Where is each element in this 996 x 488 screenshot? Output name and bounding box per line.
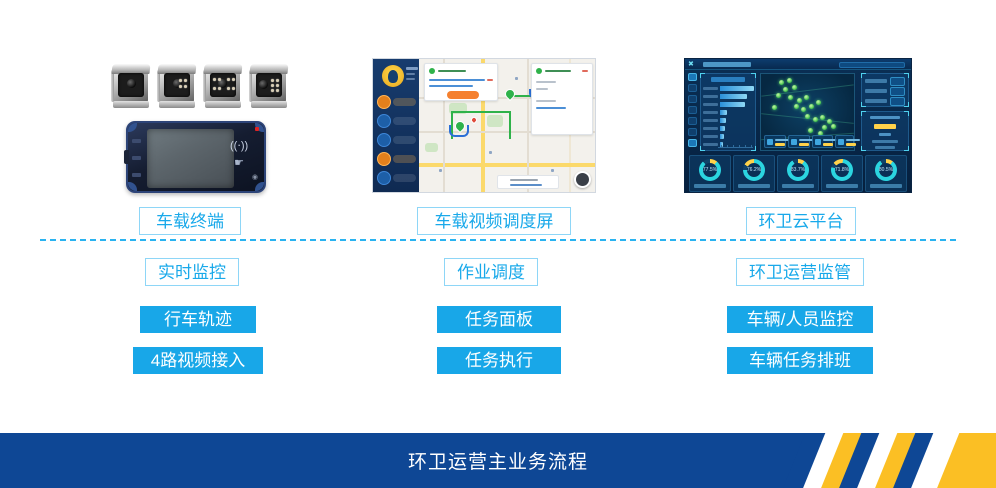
donut-gauge: 80.5% <box>875 159 897 181</box>
nav-rail-button[interactable] <box>688 117 697 125</box>
sidebar-item-home[interactable] <box>377 95 417 109</box>
nav-rail-button[interactable] <box>688 95 697 103</box>
tablet-side-button <box>124 150 129 164</box>
donut-gauge: 76.2% <box>743 159 765 181</box>
nav-rail-button[interactable] <box>688 73 697 81</box>
cloud-platform-screenshot: ✖ <box>684 58 912 193</box>
vehicle-camera-icon <box>204 64 242 108</box>
sidebar-item-broadcast[interactable] <box>377 133 417 147</box>
dispatch-sidebar <box>373 59 419 192</box>
gauge-cell: 80.5% <box>865 155 907 192</box>
sidebar-item-settings[interactable] <box>377 171 417 185</box>
feature-vehicle-personnel-monitoring[interactable]: 车辆/人员监控 <box>727 306 873 333</box>
map-detail-card <box>531 63 593 135</box>
sidebar-item-history[interactable] <box>377 114 417 128</box>
vehicle-camera-icon <box>158 64 196 108</box>
video-dispatch-screenshot <box>372 58 596 193</box>
tablet-screen <box>147 129 234 188</box>
feature-task-execution[interactable]: 任务执行 <box>437 347 561 374</box>
gauge-label <box>870 184 902 188</box>
dashboard-title <box>703 62 751 67</box>
gauge-cell: 77.5% <box>689 155 731 192</box>
kpi-panel <box>861 73 909 107</box>
vehicle-camera-icon <box>112 64 150 108</box>
donut-gauge: 83.7% <box>787 159 809 181</box>
gauge-label <box>738 184 770 188</box>
feature-driving-track[interactable]: 行车轨迹 <box>140 306 256 333</box>
map-info-card <box>424 63 498 101</box>
gauge-label <box>782 184 814 188</box>
section-divider <box>40 239 956 241</box>
feature-four-channel-video[interactable]: 4路视频接入 <box>133 347 263 374</box>
column-subheader-operation-supervision[interactable]: 环卫运营监管 <box>736 258 864 286</box>
gauge-value: 83.7% <box>787 159 809 181</box>
column-subheader-realtime-monitoring[interactable]: 实时监控 <box>145 258 239 286</box>
gauge-cell: 76.2% <box>733 155 775 192</box>
map-card-action-button[interactable] <box>447 91 479 99</box>
map-stat-card <box>764 135 786 148</box>
bar-chart-panel <box>700 73 756 151</box>
column-header-cloud-platform[interactable]: 环卫云平台 <box>746 207 856 235</box>
nav-rail-button[interactable] <box>688 128 697 136</box>
gauge-cell: 71.8% <box>821 155 863 192</box>
avatar <box>382 65 404 87</box>
dashboard-header: ✖ <box>685 59 911 70</box>
speaker-icon: ◉ <box>252 173 258 181</box>
donut-gauge: 71.8% <box>831 159 853 181</box>
bar-chart-title <box>711 77 745 82</box>
nav-rail-button[interactable] <box>688 139 697 147</box>
map-stat-card <box>788 135 810 148</box>
column-header-vehicle-terminal[interactable]: 车载终端 <box>139 207 241 235</box>
compass-icon[interactable] <box>574 171 591 188</box>
slide-root: ((‧)) ☛ ◉ <box>0 0 996 488</box>
vehicle-camera-icon <box>250 64 288 108</box>
gauge-value: 77.5% <box>699 159 721 181</box>
map-stat-card <box>835 135 854 148</box>
gauge-value: 76.2% <box>743 159 765 181</box>
column-subheader-operation-dispatch[interactable]: 作业调度 <box>444 258 538 286</box>
map-stat-card <box>812 135 833 148</box>
gauge-value: 71.8% <box>831 159 853 181</box>
feature-vehicle-task-scheduling[interactable]: 车辆任务排班 <box>727 347 873 374</box>
dispatch-map[interactable] <box>419 59 595 192</box>
record-indicator-icon <box>255 127 259 131</box>
sidebar-item-task[interactable] <box>377 152 417 166</box>
dashboard-header-control[interactable] <box>839 62 905 68</box>
column-header-video-dispatch-screen[interactable]: 车载视频调度屏 <box>417 207 571 235</box>
donut-gauge: 77.5% <box>699 159 721 181</box>
rfid-hand-icon: ☛ <box>230 156 248 170</box>
footer-stripe-decoration <box>780 433 996 488</box>
app-logo-icon: ✖ <box>688 61 695 68</box>
nav-rail-button[interactable] <box>688 106 697 114</box>
gauge-label <box>694 184 726 188</box>
map-legend <box>497 175 559 189</box>
feature-task-panel[interactable]: 任务面板 <box>437 306 561 333</box>
gauge-label <box>826 184 858 188</box>
product-images-row: ((‧)) ☛ ◉ <box>0 0 996 200</box>
nav-rail-button[interactable] <box>688 84 697 92</box>
camera-group <box>112 60 288 112</box>
gauge-value: 80.5% <box>875 159 897 181</box>
gis-map-panel[interactable] <box>760 73 855 151</box>
gauge-cell: 83.7% <box>777 155 819 192</box>
wifi-signal-icon: ((‧)) <box>230 139 248 153</box>
weather-panel <box>861 111 909 151</box>
rugged-tablet-terminal: ((‧)) ☛ ◉ <box>126 121 266 193</box>
